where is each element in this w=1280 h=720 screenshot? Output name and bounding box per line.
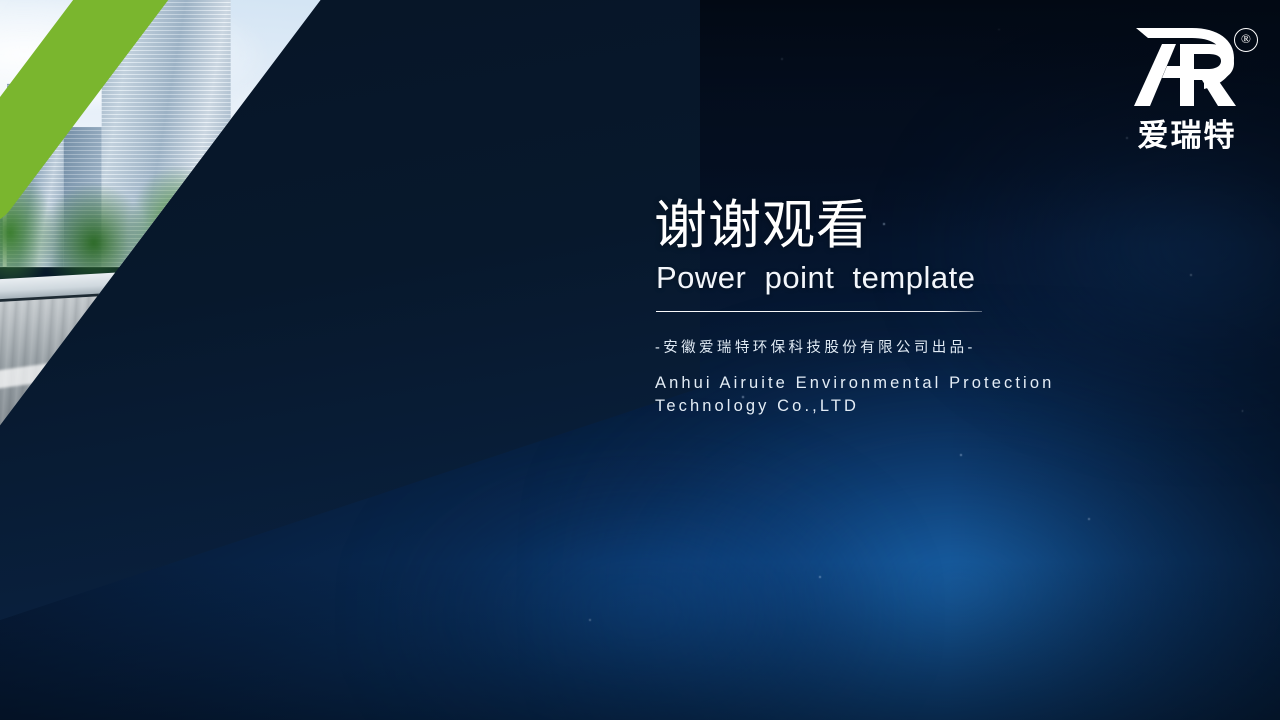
registered-trademark-icon: ® bbox=[1234, 28, 1258, 52]
ar-monogram-icon bbox=[1118, 22, 1244, 108]
logo-brand-name: 爱瑞特 bbox=[1112, 110, 1262, 155]
organization-name-en: Anhui Airuite Environmental Protection T… bbox=[655, 372, 1165, 419]
organization-name-cn: -安徽爱瑞特环保科技股份有限公司出品- bbox=[655, 338, 1214, 358]
title-divider bbox=[656, 311, 982, 312]
diagonal-stripe-artwork bbox=[0, 0, 700, 640]
page-title: 谢谢观看 bbox=[654, 196, 1214, 255]
closing-slide: 谢谢观看 Power point template -安徽爱瑞特环保科技股份有限… bbox=[0, 0, 1280, 720]
closing-text-block: 谢谢观看 Power point template -安徽爱瑞特环保科技股份有限… bbox=[654, 196, 1214, 419]
page-subtitle: Power point template bbox=[656, 259, 1214, 296]
company-logo: ® 爱瑞特 bbox=[1112, 22, 1262, 162]
